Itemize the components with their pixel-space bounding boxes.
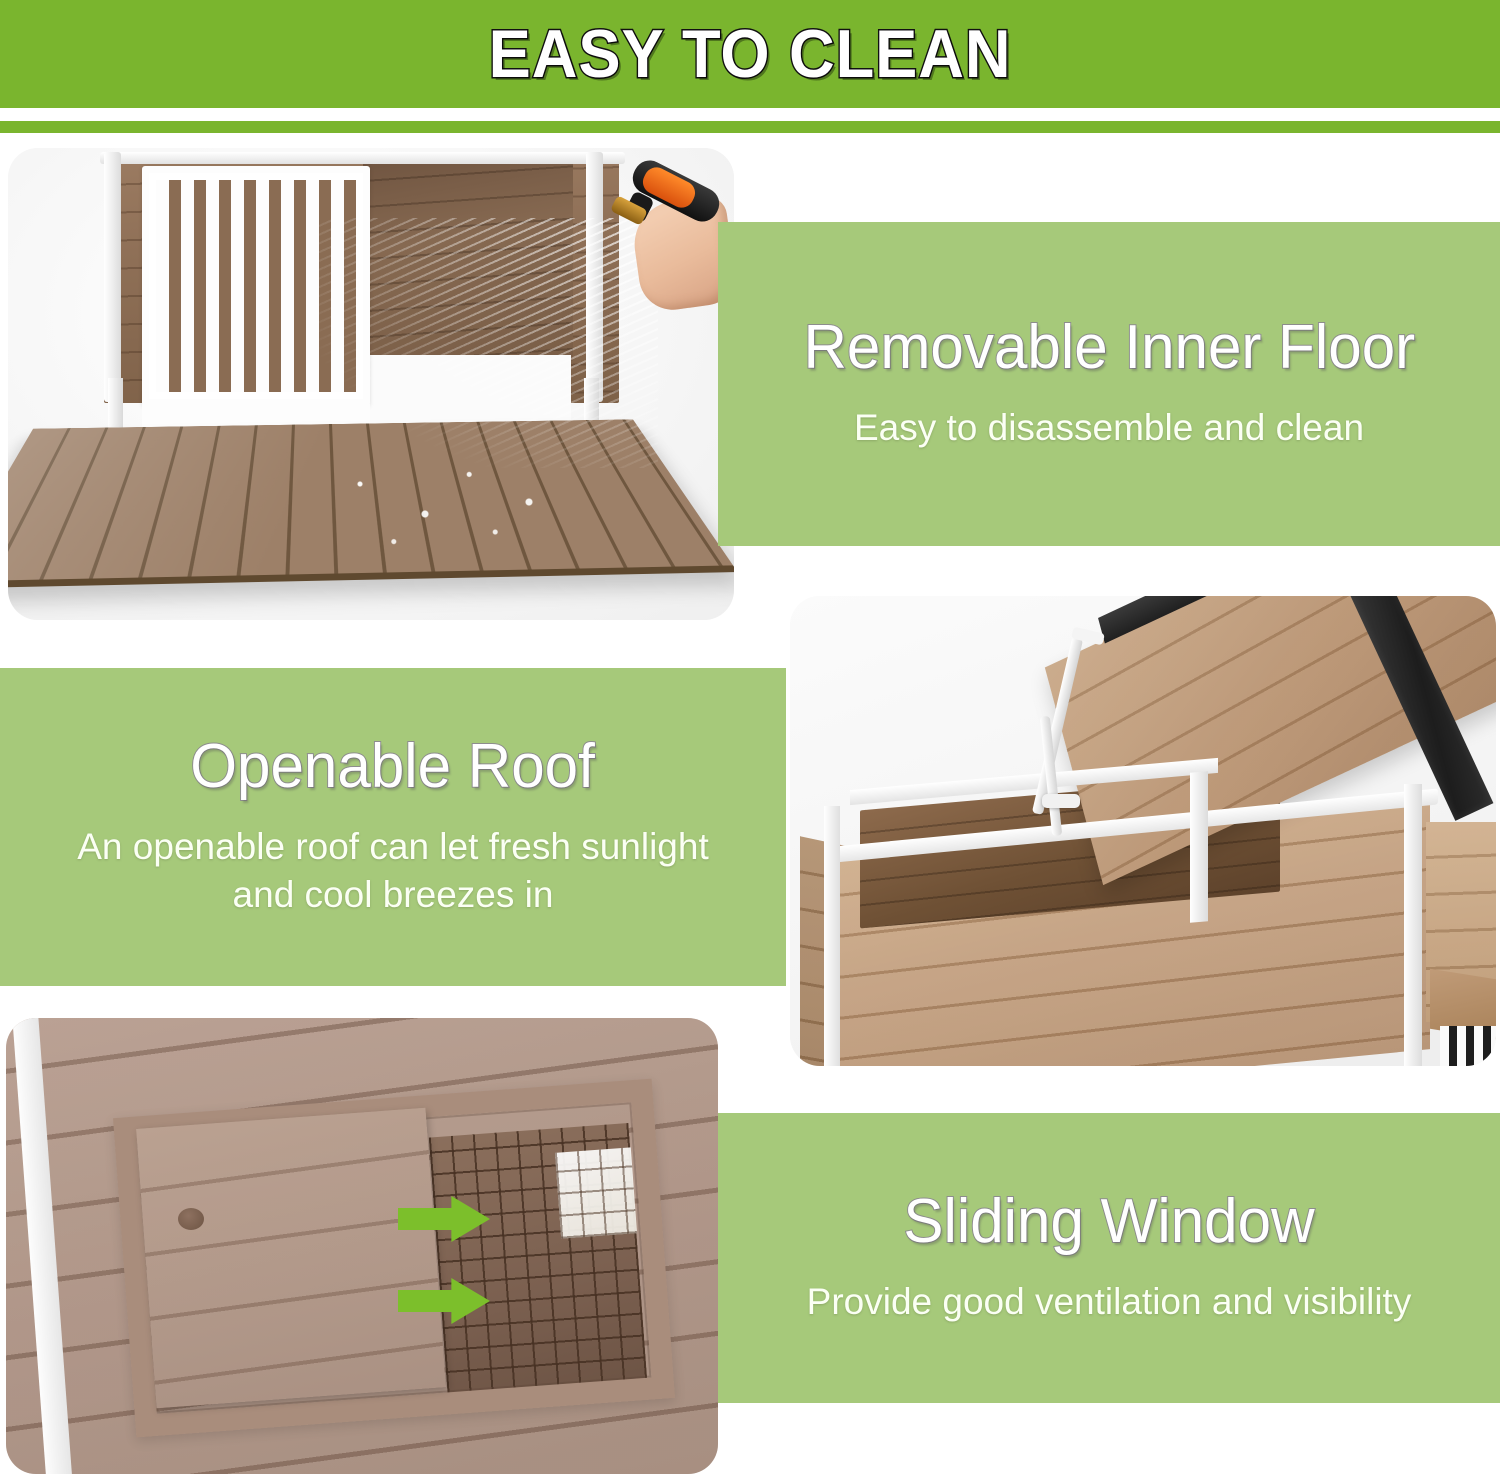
- house-inner-cavity: [363, 156, 573, 361]
- feature-title: Sliding Window: [903, 1189, 1314, 1256]
- frame-post-left: [824, 806, 840, 1066]
- slatted-gate: [142, 166, 370, 406]
- feature-title: Removable Inner Floor: [803, 315, 1415, 382]
- frame-post-right: [1404, 784, 1422, 1066]
- water-droplets: [308, 448, 568, 568]
- house-ladder: [1440, 1026, 1496, 1066]
- header-banner: EASY TO CLEAN: [0, 0, 1500, 108]
- shutter-knob: [178, 1208, 204, 1230]
- frame-post-middle: [1190, 771, 1208, 923]
- feature-title: Openable Roof: [191, 734, 596, 801]
- infographic-page: EASY TO CLEAN: [0, 0, 1500, 1478]
- sliding-shutter: [136, 1108, 446, 1408]
- photo-openable-roof: [790, 596, 1496, 1066]
- strut-pivot-bracket: [1042, 794, 1080, 808]
- feature-panel-openable-roof: Openable Roof An openable roof can let f…: [0, 668, 786, 986]
- feature-subtitle: Easy to disassemble and clean: [854, 404, 1364, 453]
- frame-post-left: [104, 152, 121, 402]
- feature-subtitle: Provide good ventilation and visibility: [807, 1278, 1412, 1327]
- photo-removable-inner-floor: [8, 148, 734, 620]
- gate-slats: [156, 180, 356, 392]
- feature-panel-sliding-window: Sliding Window Provide good ventilation …: [718, 1113, 1500, 1403]
- header-divider-rule: [0, 121, 1500, 133]
- feature-panel-removable-inner-floor: Removable Inner Floor Easy to disassembl…: [718, 222, 1500, 546]
- feature-subtitle: An openable roof can let fresh sunlight …: [63, 823, 723, 921]
- page-title: EASY TO CLEAN: [489, 15, 1012, 93]
- frame-post-right: [586, 152, 603, 402]
- photo-sliding-window: [6, 1018, 718, 1474]
- frame-top-rail: [100, 152, 625, 164]
